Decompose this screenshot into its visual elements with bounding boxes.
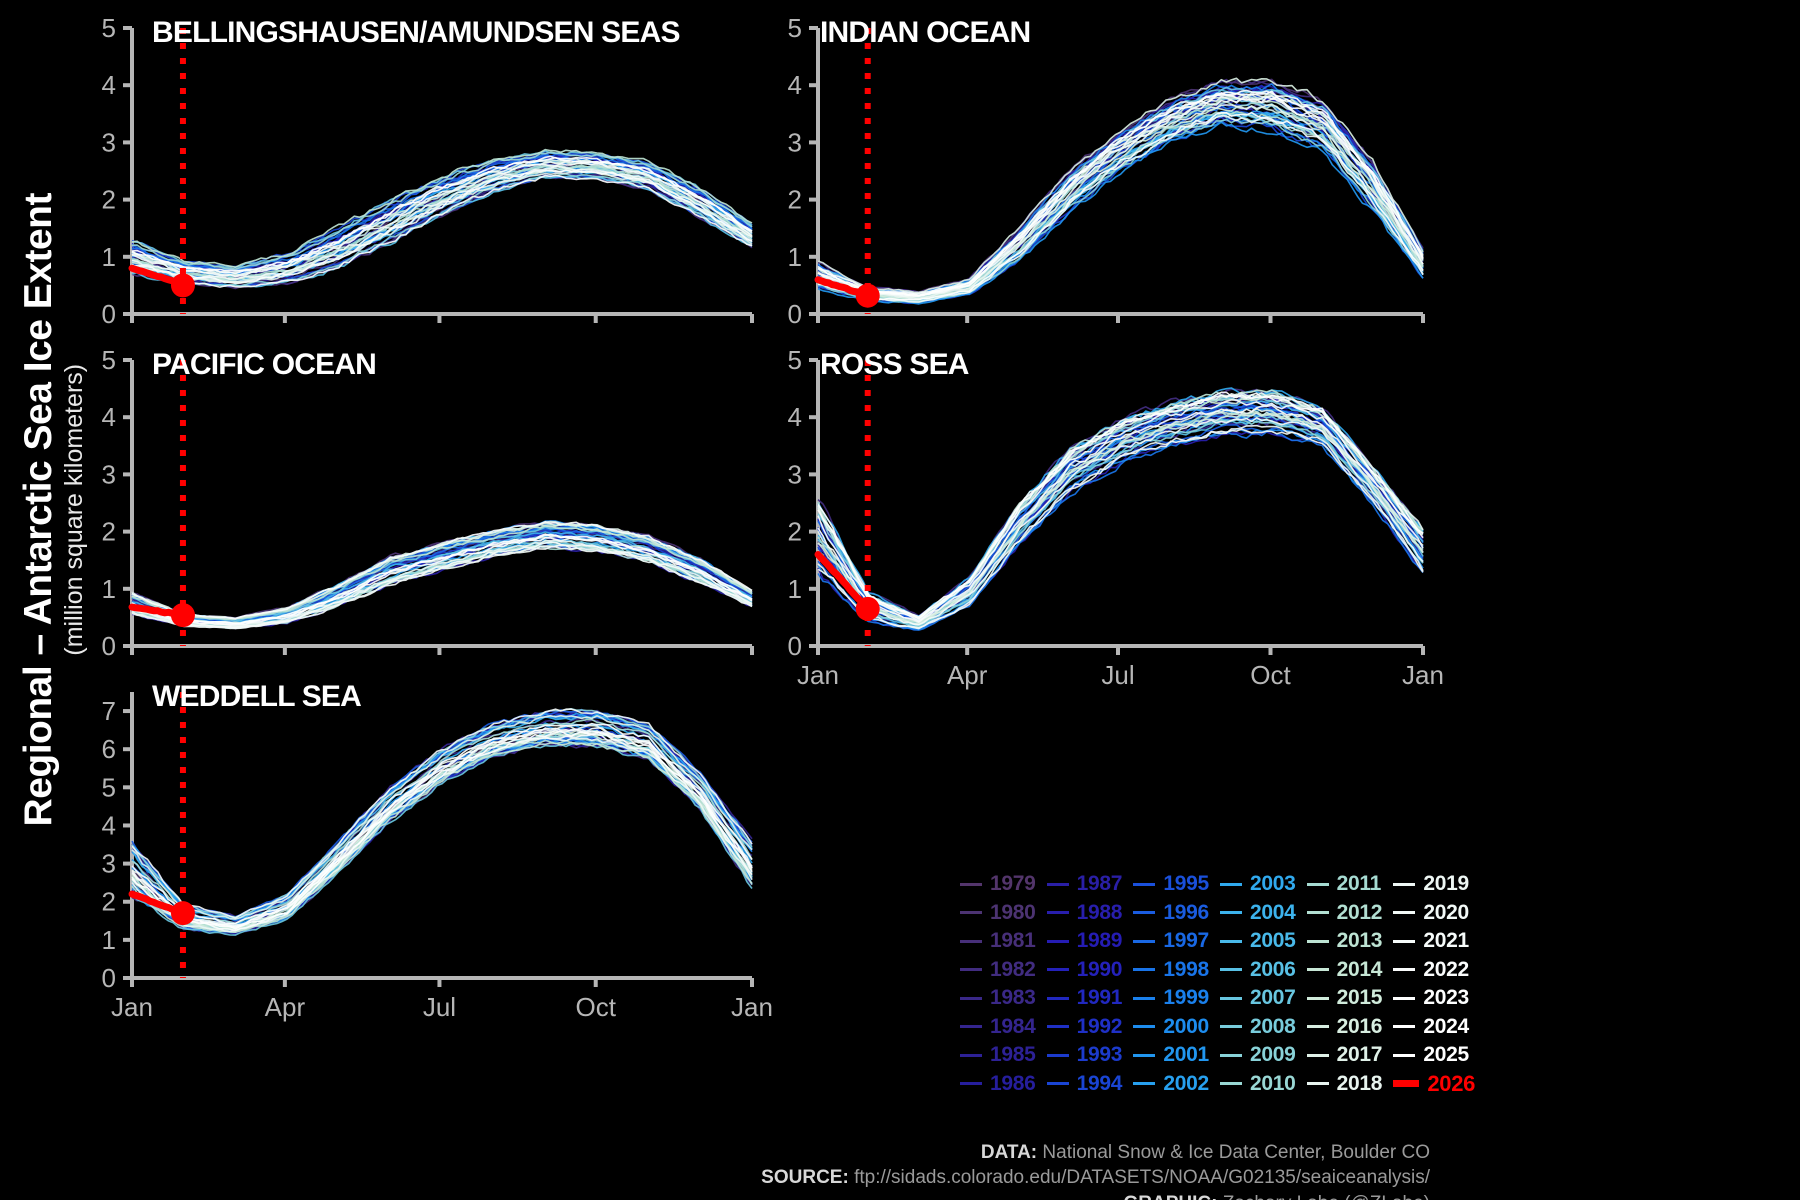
year-line-2006 xyxy=(132,535,752,624)
legend-item-1996[interactable]: 1996 xyxy=(1133,899,1220,928)
year-line-1979 xyxy=(132,728,752,926)
legend-item-2002[interactable]: 2002 xyxy=(1133,1070,1220,1099)
legend-item-1985[interactable]: 1985 xyxy=(960,1041,1047,1070)
legend-item-2021[interactable]: 2021 xyxy=(1393,927,1480,956)
legend-year-label: 1979 xyxy=(990,872,1036,896)
legend-line-swatch xyxy=(1220,997,1242,1000)
year-line-1988 xyxy=(132,544,752,627)
y-tick-label: 5 xyxy=(788,345,802,375)
legend-item-1998[interactable]: 1998 xyxy=(1133,956,1220,985)
year-line-2011 xyxy=(132,165,752,279)
year-line-1985 xyxy=(818,399,1423,619)
year-line-1979 xyxy=(818,89,1423,295)
legend-year-label: 1982 xyxy=(990,958,1036,982)
year-line-1981 xyxy=(818,103,1423,299)
year-line-2003 xyxy=(818,112,1423,301)
year-line-2002 xyxy=(132,714,752,919)
legend-line-swatch xyxy=(960,1025,982,1028)
year-line-1991 xyxy=(132,536,752,623)
legend-year-label: 1987 xyxy=(1077,872,1123,896)
year-line-2019 xyxy=(132,546,752,628)
legend-line-swatch xyxy=(1220,1054,1242,1057)
year-line-1992 xyxy=(818,401,1423,621)
year-line-2010 xyxy=(132,735,752,931)
year-line-2024 xyxy=(132,535,752,624)
year-line-1999 xyxy=(818,84,1423,294)
panel-title-ross-sea: ROSS SEA xyxy=(820,348,969,382)
year-series-group xyxy=(818,388,1423,630)
year-line-2011 xyxy=(132,547,752,628)
legend-item-2014[interactable]: 2014 xyxy=(1307,956,1394,985)
year-line-1987 xyxy=(132,171,752,283)
year-line-1997 xyxy=(818,403,1423,621)
legend-line-swatch xyxy=(1393,1054,1415,1057)
year-line-2024 xyxy=(818,113,1423,300)
year-line-2013 xyxy=(132,732,752,929)
legend-line-swatch xyxy=(1133,1054,1155,1057)
current-year-line-2026 xyxy=(818,280,868,296)
legend-item-1984[interactable]: 1984 xyxy=(960,1013,1047,1042)
year-line-2005 xyxy=(818,114,1423,301)
legend-item-2008[interactable]: 2008 xyxy=(1220,1013,1307,1042)
legend-item-2001[interactable]: 2001 xyxy=(1133,1041,1220,1070)
year-line-2019 xyxy=(818,426,1423,628)
year-line-2020 xyxy=(818,429,1423,628)
legend-year-label: 1984 xyxy=(990,1015,1036,1039)
year-line-1985 xyxy=(132,728,752,925)
legend-column: 20112012201320142015201620172018 xyxy=(1307,870,1394,1098)
legend-item-2006[interactable]: 2006 xyxy=(1220,956,1307,985)
year-line-1984 xyxy=(818,88,1423,295)
year-line-2020 xyxy=(818,116,1423,302)
credits-footer: DATA: National Snow & Ice Data Center, B… xyxy=(430,1140,1430,1200)
year-line-2022 xyxy=(818,405,1423,622)
legend-item-2020[interactable]: 2020 xyxy=(1393,899,1480,928)
year-line-1987 xyxy=(132,713,752,919)
legend-line-swatch xyxy=(1047,997,1069,1000)
year-line-1993 xyxy=(818,102,1423,298)
year-line-2011 xyxy=(818,412,1423,625)
legend-year-label: 1999 xyxy=(1163,986,1209,1010)
legend-line-swatch xyxy=(1220,1082,1242,1085)
legend-line-swatch xyxy=(1047,1054,1069,1057)
year-line-2007 xyxy=(818,415,1423,625)
legend-item-1980[interactable]: 1980 xyxy=(960,899,1047,928)
legend-line-swatch xyxy=(1047,968,1069,971)
year-series-group xyxy=(132,709,752,935)
year-line-2014 xyxy=(818,94,1423,295)
year-line-2021 xyxy=(132,542,752,627)
year-line-1985 xyxy=(132,157,752,271)
current-year-line-2026 xyxy=(818,555,868,609)
y-axis-super-label: Regional – Antarctic Sea Ice Extent (mil… xyxy=(0,0,110,1020)
year-line-2011 xyxy=(818,102,1423,298)
year-line-2025 xyxy=(818,392,1423,617)
year-line-1994 xyxy=(132,727,752,926)
year-line-1988 xyxy=(818,432,1423,630)
legend-year-label: 2025 xyxy=(1423,1043,1469,1067)
year-line-2006 xyxy=(132,176,752,286)
year-line-2009 xyxy=(132,174,752,286)
legend-year-label: 1985 xyxy=(990,1043,1036,1067)
legend-item-2019[interactable]: 2019 xyxy=(1393,870,1480,899)
legend-item-1982[interactable]: 1982 xyxy=(960,956,1047,985)
legend-line-swatch xyxy=(1220,1025,1242,1028)
year-line-1997 xyxy=(818,92,1423,297)
legend-item-1988[interactable]: 1988 xyxy=(1047,899,1134,928)
legend-year-label: 2026 xyxy=(1427,1071,1475,1097)
legend-year-label: 1994 xyxy=(1077,1072,1123,1096)
y-tick-label: 4 xyxy=(788,402,802,432)
year-line-2009 xyxy=(818,420,1423,627)
year-line-2010 xyxy=(818,396,1423,618)
year-line-1981 xyxy=(132,522,752,618)
year-line-2007 xyxy=(132,743,752,935)
legend-year-label: 1983 xyxy=(990,986,1036,1010)
legend-year-label: 2019 xyxy=(1423,872,1469,896)
year-line-2006 xyxy=(132,731,752,929)
year-line-1995 xyxy=(818,96,1423,296)
legend-column: 20032004200520062007200820092010 xyxy=(1220,870,1307,1098)
year-line-1982 xyxy=(818,389,1423,616)
panel-title-bellingshausen-amundsen-seas: BELLINGSHAUSEN/AMUNDSEN SEAS xyxy=(152,16,680,50)
year-line-2008 xyxy=(132,734,752,928)
legend-item-1993[interactable]: 1993 xyxy=(1047,1041,1134,1070)
year-line-1981 xyxy=(132,176,752,288)
legend-year-label: 2004 xyxy=(1250,901,1296,925)
year-line-1986 xyxy=(132,742,752,934)
year-line-2013 xyxy=(818,97,1423,297)
year-line-1987 xyxy=(818,412,1423,625)
legend-item-1995[interactable]: 1995 xyxy=(1133,870,1220,899)
credit-data-label: DATA: xyxy=(981,1142,1037,1163)
legend-item-2004[interactable]: 2004 xyxy=(1220,899,1307,928)
year-line-2000 xyxy=(818,118,1423,302)
x-tick-label: Jan xyxy=(111,992,153,1022)
legend-item-2017[interactable]: 2017 xyxy=(1307,1041,1394,1070)
legend-year-label: 2012 xyxy=(1337,901,1383,925)
y-tick-label: 3 xyxy=(788,459,802,489)
year-line-1996 xyxy=(818,425,1423,628)
year-line-2017 xyxy=(132,522,752,619)
year-line-2016 xyxy=(818,413,1423,624)
legend-year-label: 1993 xyxy=(1077,1043,1123,1067)
year-line-1996 xyxy=(132,155,752,270)
year-line-1983 xyxy=(132,531,752,621)
year-line-1986 xyxy=(132,527,752,620)
year-line-2002 xyxy=(818,408,1423,623)
legend-line-swatch xyxy=(1393,883,1415,886)
year-line-2000 xyxy=(818,429,1423,629)
year-line-1990 xyxy=(132,712,752,918)
year-line-2017 xyxy=(132,171,752,282)
legend-item-2013[interactable]: 2013 xyxy=(1307,927,1394,956)
legend-line-swatch xyxy=(1220,940,1242,943)
year-line-2003 xyxy=(818,388,1423,616)
year-line-2015 xyxy=(132,733,752,930)
legend-item-1994[interactable]: 1994 xyxy=(1047,1070,1134,1099)
legend-item-1987[interactable]: 1987 xyxy=(1047,870,1134,899)
year-line-1992 xyxy=(132,739,752,932)
year-line-2022 xyxy=(132,734,752,931)
year-line-1992 xyxy=(132,537,752,624)
legend-line-swatch xyxy=(1393,940,1415,943)
y-tick-label: 5 xyxy=(788,13,802,43)
year-line-2012 xyxy=(818,394,1423,618)
year-line-2000 xyxy=(132,521,752,618)
year-line-2016 xyxy=(132,159,752,272)
year-line-2010 xyxy=(132,542,752,627)
year-line-1991 xyxy=(818,86,1423,295)
year-line-1980 xyxy=(132,523,752,618)
legend-column: 19951996199719981999200020012002 xyxy=(1133,870,1220,1098)
legend-year-label: 2011 xyxy=(1337,872,1381,896)
legend-line-swatch xyxy=(960,1054,982,1057)
legend-year-label: 1991 xyxy=(1077,986,1123,1010)
year-line-1996 xyxy=(132,527,752,621)
year-line-2021 xyxy=(132,163,752,276)
year-line-1980 xyxy=(132,733,752,931)
legend-year-label: 2010 xyxy=(1250,1072,1296,1096)
year-line-2023 xyxy=(132,728,752,927)
year-line-2006 xyxy=(818,420,1423,628)
year-line-2000 xyxy=(132,159,752,275)
year-line-1991 xyxy=(132,737,752,930)
legend-year-label: 2020 xyxy=(1423,901,1469,925)
year-line-2017 xyxy=(132,716,752,919)
legend-item-1990[interactable]: 1990 xyxy=(1047,956,1134,985)
legend-line-swatch xyxy=(1307,1082,1329,1085)
current-value-marker xyxy=(856,284,880,308)
year-line-2022 xyxy=(132,175,752,287)
legend-year-label: 2021 xyxy=(1423,929,1469,953)
x-tick-label: Oct xyxy=(575,992,616,1022)
x-tick-label: Jan xyxy=(731,992,773,1022)
year-line-2004 xyxy=(132,532,752,623)
y-tick-label: 3 xyxy=(788,127,802,157)
year-line-1982 xyxy=(132,177,752,287)
year-line-1999 xyxy=(132,526,752,620)
legend-item-1997[interactable]: 1997 xyxy=(1133,927,1220,956)
legend-line-swatch xyxy=(1133,968,1155,971)
year-line-2007 xyxy=(132,527,752,621)
legend-item-2016[interactable]: 2016 xyxy=(1307,1013,1394,1042)
year-line-1998 xyxy=(132,154,752,271)
year-line-2015 xyxy=(132,536,752,622)
year-line-2018 xyxy=(818,105,1423,299)
legend-year-label: 1981 xyxy=(990,929,1036,953)
panel-title-indian-ocean: INDIAN OCEAN xyxy=(820,16,1030,50)
legend-year-label: 1980 xyxy=(990,901,1036,925)
legend-item-2018[interactable]: 2018 xyxy=(1307,1070,1394,1099)
year-line-2023 xyxy=(132,170,752,283)
current-year-line-2026 xyxy=(132,607,183,615)
year-line-1993 xyxy=(132,531,752,622)
legend-year-label: 2014 xyxy=(1337,958,1383,982)
year-line-1986 xyxy=(132,156,752,273)
y-tick-label: 0 xyxy=(788,631,802,661)
legend-item-2026[interactable]: 2026 xyxy=(1393,1070,1480,1099)
year-line-2018 xyxy=(818,393,1423,619)
year-line-2017 xyxy=(818,93,1423,296)
year-line-2025 xyxy=(818,91,1423,295)
legend-item-2007[interactable]: 2007 xyxy=(1220,984,1307,1013)
year-line-2017 xyxy=(818,409,1423,623)
legend-item-2024[interactable]: 2024 xyxy=(1393,1013,1480,1042)
year-line-2014 xyxy=(132,162,752,276)
credit-graphic-value: Zachary Labe (@ZLabe) xyxy=(1217,1193,1430,1200)
legend-item-1983[interactable]: 1983 xyxy=(960,984,1047,1013)
year-line-2011 xyxy=(132,720,752,924)
legend-item-1981[interactable]: 1981 xyxy=(960,927,1047,956)
year-line-1984 xyxy=(132,711,752,917)
legend-line-swatch xyxy=(1393,968,1415,971)
panel-title-weddell-sea: WEDDELL SEA xyxy=(152,680,361,714)
year-line-1988 xyxy=(818,108,1423,300)
legend-item-2025[interactable]: 2025 xyxy=(1393,1041,1480,1070)
year-line-2015 xyxy=(818,396,1423,619)
y-axis-label-sub: (million square kilometers) xyxy=(58,193,91,826)
year-line-2019 xyxy=(132,737,752,931)
legend-line-swatch xyxy=(1307,997,1329,1000)
year-line-2008 xyxy=(818,398,1423,619)
legend-item-1999[interactable]: 1999 xyxy=(1133,984,1220,1013)
legend-item-1989[interactable]: 1989 xyxy=(1047,927,1134,956)
year-line-1997 xyxy=(132,166,752,281)
legend-item-2012[interactable]: 2012 xyxy=(1307,899,1394,928)
legend-line-swatch xyxy=(1047,1025,1069,1028)
legend-item-2011[interactable]: 2011 xyxy=(1307,870,1394,899)
year-line-2012 xyxy=(132,165,752,279)
year-line-1992 xyxy=(132,153,752,270)
legend-item-1992[interactable]: 1992 xyxy=(1047,1013,1134,1042)
legend-year-label: 1996 xyxy=(1163,901,1209,925)
legend-column: 19871988198919901991199219931994 xyxy=(1047,870,1134,1098)
year-line-2018 xyxy=(132,726,752,926)
legend-item-2003[interactable]: 2003 xyxy=(1220,870,1307,899)
legend-item-2010[interactable]: 2010 xyxy=(1220,1070,1307,1099)
year-line-2024 xyxy=(132,731,752,929)
year-line-2007 xyxy=(818,87,1423,293)
legend-column: 19791980198119821983198419851986 xyxy=(960,870,1047,1098)
year-line-1983 xyxy=(818,398,1423,620)
year-line-2002 xyxy=(132,540,752,625)
credit-source-line: SOURCE: ftp://sidads.colorado.edu/DATASE… xyxy=(430,1165,1430,1190)
legend-line-swatch xyxy=(1307,1054,1329,1057)
legend-item-1986[interactable]: 1986 xyxy=(960,1070,1047,1099)
legend-item-2022[interactable]: 2022 xyxy=(1393,956,1480,985)
current-value-marker xyxy=(171,603,195,627)
legend-year-label: 2013 xyxy=(1337,929,1383,953)
legend-item-2000[interactable]: 2000 xyxy=(1133,1013,1220,1042)
legend-line-swatch xyxy=(1393,1025,1415,1028)
year-line-2016 xyxy=(132,731,752,927)
legend-item-1991[interactable]: 1991 xyxy=(1047,984,1134,1013)
legend-year-label: 1992 xyxy=(1077,1015,1123,1039)
year-line-2013 xyxy=(818,390,1423,618)
year-line-1989 xyxy=(132,734,752,930)
legend-line-swatch xyxy=(960,883,982,886)
current-year-line-2026 xyxy=(132,268,183,284)
year-line-1990 xyxy=(132,157,752,274)
year-line-2001 xyxy=(132,168,752,282)
year-line-2013 xyxy=(132,526,752,620)
current-value-marker xyxy=(171,901,195,925)
year-line-1990 xyxy=(818,415,1423,625)
credit-source-label: SOURCE: xyxy=(761,1167,849,1188)
legend-item-2005[interactable]: 2005 xyxy=(1220,927,1307,956)
legend-line-swatch xyxy=(1307,1025,1329,1028)
x-tick-label: Jul xyxy=(1101,660,1134,690)
legend-year-label: 2023 xyxy=(1423,986,1469,1010)
year-line-1998 xyxy=(132,737,752,932)
legend-line-swatch xyxy=(1133,1082,1155,1085)
year-line-2001 xyxy=(818,122,1423,304)
legend-line-swatch xyxy=(960,940,982,943)
year-line-2025 xyxy=(132,534,752,624)
legend-year-label: 1990 xyxy=(1077,958,1123,982)
year-line-2001 xyxy=(818,419,1423,627)
year-line-2021 xyxy=(818,418,1423,625)
year-line-1998 xyxy=(818,430,1423,630)
year-line-1993 xyxy=(132,738,752,932)
legend-year-label: 2005 xyxy=(1250,929,1296,953)
year-line-2010 xyxy=(132,152,752,269)
credit-graphic-line: GRAPHIC: Zachary Labe (@ZLabe) xyxy=(430,1191,1430,1200)
year-line-1996 xyxy=(818,111,1423,300)
year-line-2022 xyxy=(132,522,752,619)
legend-item-2023[interactable]: 2023 xyxy=(1393,984,1480,1013)
year-line-1999 xyxy=(132,162,752,276)
legend-line-swatch xyxy=(1307,968,1329,971)
year-line-2009 xyxy=(818,119,1423,302)
legend-line-swatch xyxy=(1307,883,1329,886)
legend-line-swatch xyxy=(1220,911,1242,914)
year-line-2024 xyxy=(818,393,1423,619)
legend-year-label: 2022 xyxy=(1423,958,1469,982)
year-line-1989 xyxy=(132,156,752,272)
legend-line-swatch xyxy=(960,997,982,1000)
year-legend: 1979198019811982198319841985198619871988… xyxy=(960,870,1480,1098)
year-line-1999 xyxy=(132,715,752,921)
year-line-2025 xyxy=(132,724,752,924)
year-line-1982 xyxy=(132,531,752,623)
year-line-2013 xyxy=(132,150,752,268)
year-line-1992 xyxy=(818,117,1423,303)
legend-year-label: 1989 xyxy=(1077,929,1123,953)
legend-item-2015[interactable]: 2015 xyxy=(1307,984,1394,1013)
legend-item-1979[interactable]: 1979 xyxy=(960,870,1047,899)
year-line-1986 xyxy=(818,96,1423,297)
year-line-2001 xyxy=(132,725,752,926)
year-line-1994 xyxy=(818,407,1423,623)
legend-year-label: 1988 xyxy=(1077,901,1123,925)
year-line-2003 xyxy=(132,723,752,925)
legend-line-swatch xyxy=(1133,911,1155,914)
year-line-1995 xyxy=(132,176,752,286)
year-series-group xyxy=(132,521,752,629)
year-line-1995 xyxy=(132,714,752,918)
credit-graphic-label: GRAPHIC: xyxy=(1123,1193,1217,1200)
year-line-2004 xyxy=(818,112,1423,300)
legend-line-swatch xyxy=(1393,1080,1419,1087)
year-line-2016 xyxy=(132,523,752,619)
year-line-2002 xyxy=(818,111,1423,300)
year-line-2023 xyxy=(818,400,1423,621)
year-line-1995 xyxy=(132,527,752,620)
legend-item-2009[interactable]: 2009 xyxy=(1220,1041,1307,1070)
x-tick-label: Jan xyxy=(797,660,839,690)
